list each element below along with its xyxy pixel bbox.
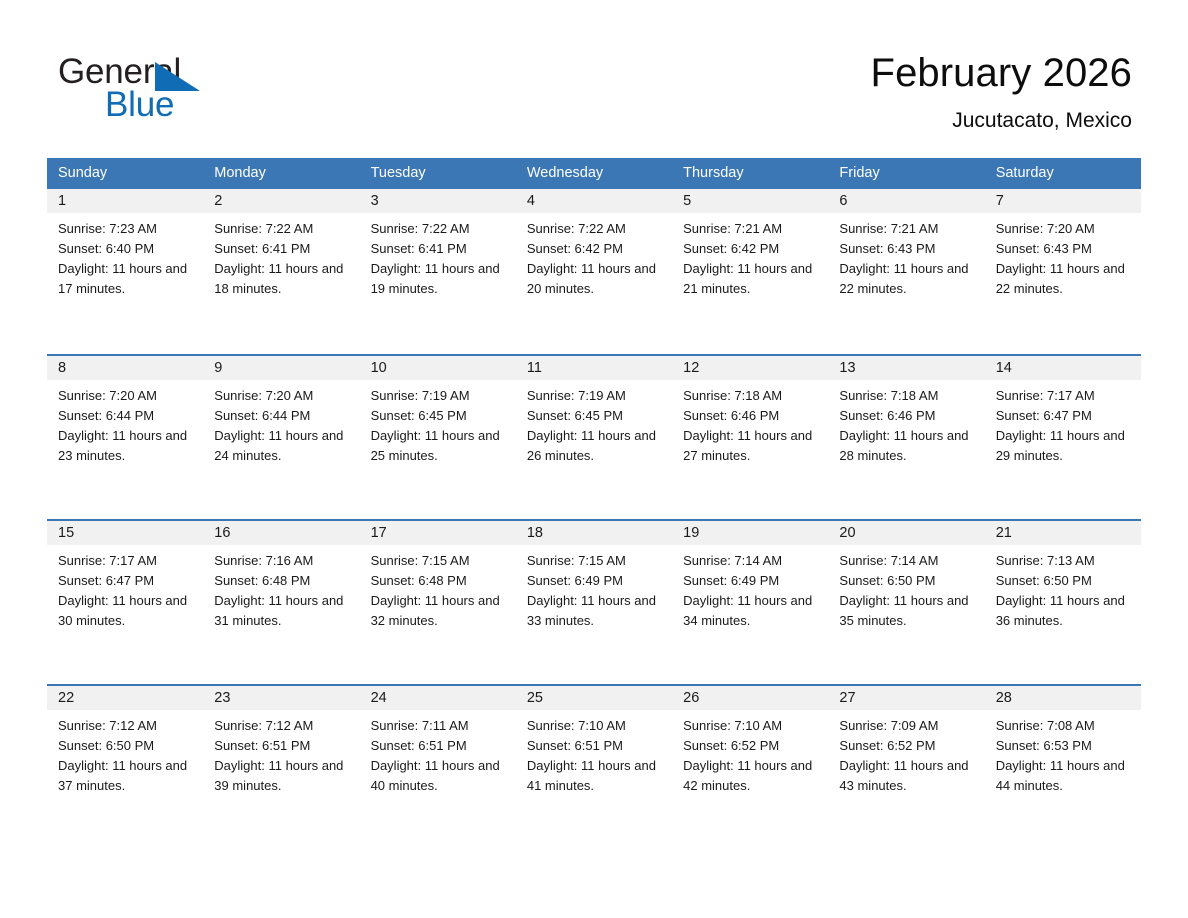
sunrise-text: Sunrise: 7:16 AM (214, 551, 351, 571)
day-cell[interactable]: 12 Sunrise: 7:18 AM Sunset: 6:46 PM Dayl… (672, 356, 828, 519)
sunrise-text: Sunrise: 7:21 AM (683, 219, 820, 239)
sunset-text: Sunset: 6:42 PM (527, 239, 664, 259)
daylight-text: Daylight: 11 hours and 34 minutes. (683, 591, 820, 631)
weekday-header-row: Sunday Monday Tuesday Wednesday Thursday… (47, 158, 1141, 189)
day-cell[interactable]: 6 Sunrise: 7:21 AM Sunset: 6:43 PM Dayli… (828, 189, 984, 354)
day-number: 2 (203, 189, 359, 213)
sunrise-text: Sunrise: 7:10 AM (683, 716, 820, 736)
day-cell[interactable]: 4 Sunrise: 7:22 AM Sunset: 6:42 PM Dayli… (516, 189, 672, 354)
day-details: Sunrise: 7:23 AM Sunset: 6:40 PM Dayligh… (47, 213, 203, 299)
sunrise-text: Sunrise: 7:22 AM (527, 219, 664, 239)
day-number: 17 (360, 521, 516, 545)
sunset-text: Sunset: 6:51 PM (214, 736, 351, 756)
sunset-text: Sunset: 6:51 PM (371, 736, 508, 756)
daylight-text: Daylight: 11 hours and 35 minutes. (839, 591, 976, 631)
day-details: Sunrise: 7:22 AM Sunset: 6:42 PM Dayligh… (516, 213, 672, 299)
sunrise-text: Sunrise: 7:14 AM (839, 551, 976, 571)
location-subtitle: Jucutacato, Mexico (871, 106, 1132, 136)
daylight-text: Daylight: 11 hours and 25 minutes. (371, 426, 508, 466)
sunset-text: Sunset: 6:50 PM (996, 571, 1133, 591)
day-number: 16 (203, 521, 359, 545)
sunset-text: Sunset: 6:52 PM (683, 736, 820, 756)
daylight-text: Daylight: 11 hours and 29 minutes. (996, 426, 1133, 466)
sunset-text: Sunset: 6:45 PM (527, 406, 664, 426)
weekday-header-sunday: Sunday (47, 158, 203, 189)
day-cell[interactable]: 27 Sunrise: 7:09 AM Sunset: 6:52 PM Dayl… (828, 686, 984, 849)
sunrise-text: Sunrise: 7:22 AM (214, 219, 351, 239)
day-number: 10 (360, 356, 516, 380)
day-number: 9 (203, 356, 359, 380)
day-details: Sunrise: 7:10 AM Sunset: 6:51 PM Dayligh… (516, 710, 672, 796)
sunrise-text: Sunrise: 7:19 AM (371, 386, 508, 406)
day-number: 19 (672, 521, 828, 545)
daylight-text: Daylight: 11 hours and 39 minutes. (214, 756, 351, 796)
sunrise-text: Sunrise: 7:13 AM (996, 551, 1133, 571)
day-number: 28 (985, 686, 1141, 710)
day-number: 5 (672, 189, 828, 213)
day-number: 1 (47, 189, 203, 213)
weekday-header-thursday: Thursday (672, 158, 828, 189)
day-details: Sunrise: 7:22 AM Sunset: 6:41 PM Dayligh… (360, 213, 516, 299)
sunset-text: Sunset: 6:46 PM (683, 406, 820, 426)
title-block: February 2026 Jucutacato, Mexico (871, 48, 1132, 136)
day-number: 4 (516, 189, 672, 213)
day-cell[interactable]: 24 Sunrise: 7:11 AM Sunset: 6:51 PM Dayl… (360, 686, 516, 849)
day-details: Sunrise: 7:17 AM Sunset: 6:47 PM Dayligh… (985, 380, 1141, 466)
sunrise-text: Sunrise: 7:10 AM (527, 716, 664, 736)
daylight-text: Daylight: 11 hours and 23 minutes. (58, 426, 195, 466)
day-cell[interactable]: 28 Sunrise: 7:08 AM Sunset: 6:53 PM Dayl… (985, 686, 1141, 849)
week-row: 1 Sunrise: 7:23 AM Sunset: 6:40 PM Dayli… (47, 189, 1141, 354)
sunrise-text: Sunrise: 7:18 AM (839, 386, 976, 406)
sunrise-text: Sunrise: 7:23 AM (58, 219, 195, 239)
daylight-text: Daylight: 11 hours and 30 minutes. (58, 591, 195, 631)
day-cell[interactable]: 25 Sunrise: 7:10 AM Sunset: 6:51 PM Dayl… (516, 686, 672, 849)
day-details: Sunrise: 7:20 AM Sunset: 6:43 PM Dayligh… (985, 213, 1141, 299)
sunset-text: Sunset: 6:49 PM (683, 571, 820, 591)
day-number: 14 (985, 356, 1141, 380)
day-details: Sunrise: 7:21 AM Sunset: 6:43 PM Dayligh… (828, 213, 984, 299)
sunrise-text: Sunrise: 7:15 AM (527, 551, 664, 571)
daylight-text: Daylight: 11 hours and 24 minutes. (214, 426, 351, 466)
daylight-text: Daylight: 11 hours and 33 minutes. (527, 591, 664, 631)
day-cell[interactable]: 16 Sunrise: 7:16 AM Sunset: 6:48 PM Dayl… (203, 521, 359, 684)
sunset-text: Sunset: 6:43 PM (996, 239, 1133, 259)
day-cell[interactable]: 26 Sunrise: 7:10 AM Sunset: 6:52 PM Dayl… (672, 686, 828, 849)
sunrise-text: Sunrise: 7:20 AM (996, 219, 1133, 239)
day-details: Sunrise: 7:22 AM Sunset: 6:41 PM Dayligh… (203, 213, 359, 299)
weekday-header-saturday: Saturday (985, 158, 1141, 189)
calendar-page: General Blue February 2026 Jucutacato, M… (0, 0, 1188, 918)
day-cell[interactable]: 5 Sunrise: 7:21 AM Sunset: 6:42 PM Dayli… (672, 189, 828, 354)
sunrise-text: Sunrise: 7:17 AM (58, 551, 195, 571)
day-details: Sunrise: 7:20 AM Sunset: 6:44 PM Dayligh… (203, 380, 359, 466)
day-cell[interactable]: 20 Sunrise: 7:14 AM Sunset: 6:50 PM Dayl… (828, 521, 984, 684)
daylight-text: Daylight: 11 hours and 42 minutes. (683, 756, 820, 796)
sunrise-text: Sunrise: 7:22 AM (371, 219, 508, 239)
day-number: 27 (828, 686, 984, 710)
sunset-text: Sunset: 6:48 PM (371, 571, 508, 591)
day-cell[interactable]: 22 Sunrise: 7:12 AM Sunset: 6:50 PM Dayl… (47, 686, 203, 849)
weekday-header-friday: Friday (828, 158, 984, 189)
day-cell[interactable]: 21 Sunrise: 7:13 AM Sunset: 6:50 PM Dayl… (985, 521, 1141, 684)
sunrise-text: Sunrise: 7:20 AM (214, 386, 351, 406)
daylight-text: Daylight: 11 hours and 27 minutes. (683, 426, 820, 466)
day-number: 20 (828, 521, 984, 545)
weekday-header-tuesday: Tuesday (360, 158, 516, 189)
logo-word-blue: Blue (105, 85, 174, 125)
sunset-text: Sunset: 6:42 PM (683, 239, 820, 259)
day-details: Sunrise: 7:20 AM Sunset: 6:44 PM Dayligh… (47, 380, 203, 466)
sunset-text: Sunset: 6:48 PM (214, 571, 351, 591)
daylight-text: Daylight: 11 hours and 22 minutes. (996, 259, 1133, 299)
day-details: Sunrise: 7:11 AM Sunset: 6:51 PM Dayligh… (360, 710, 516, 796)
sunrise-text: Sunrise: 7:20 AM (58, 386, 195, 406)
day-number: 15 (47, 521, 203, 545)
sunset-text: Sunset: 6:40 PM (58, 239, 195, 259)
day-details: Sunrise: 7:19 AM Sunset: 6:45 PM Dayligh… (360, 380, 516, 466)
day-cell[interactable]: 3 Sunrise: 7:22 AM Sunset: 6:41 PM Dayli… (360, 189, 516, 354)
sunrise-text: Sunrise: 7:19 AM (527, 386, 664, 406)
sunrise-text: Sunrise: 7:21 AM (839, 219, 976, 239)
day-cell[interactable]: 17 Sunrise: 7:15 AM Sunset: 6:48 PM Dayl… (360, 521, 516, 684)
day-cell[interactable]: 9 Sunrise: 7:20 AM Sunset: 6:44 PM Dayli… (203, 356, 359, 519)
day-cell[interactable]: 14 Sunrise: 7:17 AM Sunset: 6:47 PM Dayl… (985, 356, 1141, 519)
sunset-text: Sunset: 6:47 PM (996, 406, 1133, 426)
sunrise-text: Sunrise: 7:11 AM (371, 716, 508, 736)
sunset-text: Sunset: 6:46 PM (839, 406, 976, 426)
day-details: Sunrise: 7:18 AM Sunset: 6:46 PM Dayligh… (828, 380, 984, 466)
daylight-text: Daylight: 11 hours and 41 minutes. (527, 756, 664, 796)
daylight-text: Daylight: 11 hours and 21 minutes. (683, 259, 820, 299)
sunset-text: Sunset: 6:44 PM (58, 406, 195, 426)
masthead: General Blue February 2026 Jucutacato, M… (0, 0, 1188, 148)
sunset-text: Sunset: 6:43 PM (839, 239, 976, 259)
day-cell[interactable]: 13 Sunrise: 7:18 AM Sunset: 6:46 PM Dayl… (828, 356, 984, 519)
day-number: 23 (203, 686, 359, 710)
daylight-text: Daylight: 11 hours and 19 minutes. (371, 259, 508, 299)
sunrise-text: Sunrise: 7:18 AM (683, 386, 820, 406)
day-details: Sunrise: 7:10 AM Sunset: 6:52 PM Dayligh… (672, 710, 828, 796)
daylight-text: Daylight: 11 hours and 20 minutes. (527, 259, 664, 299)
sunrise-text: Sunrise: 7:12 AM (58, 716, 195, 736)
daylight-text: Daylight: 11 hours and 17 minutes. (58, 259, 195, 299)
day-cell[interactable]: 8 Sunrise: 7:20 AM Sunset: 6:44 PM Dayli… (47, 356, 203, 519)
weekday-header-monday: Monday (203, 158, 359, 189)
day-number: 22 (47, 686, 203, 710)
day-details: Sunrise: 7:09 AM Sunset: 6:52 PM Dayligh… (828, 710, 984, 796)
day-details: Sunrise: 7:13 AM Sunset: 6:50 PM Dayligh… (985, 545, 1141, 631)
day-number: 12 (672, 356, 828, 380)
day-details: Sunrise: 7:19 AM Sunset: 6:45 PM Dayligh… (516, 380, 672, 466)
day-cell[interactable]: 2 Sunrise: 7:22 AM Sunset: 6:41 PM Dayli… (203, 189, 359, 354)
sunset-text: Sunset: 6:51 PM (527, 736, 664, 756)
page-title: February 2026 (871, 48, 1132, 98)
day-cell[interactable]: 18 Sunrise: 7:15 AM Sunset: 6:49 PM Dayl… (516, 521, 672, 684)
day-details: Sunrise: 7:21 AM Sunset: 6:42 PM Dayligh… (672, 213, 828, 299)
sunset-text: Sunset: 6:44 PM (214, 406, 351, 426)
sunrise-text: Sunrise: 7:08 AM (996, 716, 1133, 736)
day-cell[interactable]: 10 Sunrise: 7:19 AM Sunset: 6:45 PM Dayl… (360, 356, 516, 519)
day-number: 26 (672, 686, 828, 710)
sunrise-text: Sunrise: 7:09 AM (839, 716, 976, 736)
daylight-text: Daylight: 11 hours and 37 minutes. (58, 756, 195, 796)
day-number: 24 (360, 686, 516, 710)
day-details: Sunrise: 7:12 AM Sunset: 6:50 PM Dayligh… (47, 710, 203, 796)
day-number: 11 (516, 356, 672, 380)
day-cell[interactable]: 19 Sunrise: 7:14 AM Sunset: 6:49 PM Dayl… (672, 521, 828, 684)
daylight-text: Daylight: 11 hours and 40 minutes. (371, 756, 508, 796)
sunset-text: Sunset: 6:45 PM (371, 406, 508, 426)
day-details: Sunrise: 7:14 AM Sunset: 6:49 PM Dayligh… (672, 545, 828, 631)
sunrise-text: Sunrise: 7:12 AM (214, 716, 351, 736)
sunset-text: Sunset: 6:50 PM (839, 571, 976, 591)
week-row: 8 Sunrise: 7:20 AM Sunset: 6:44 PM Dayli… (47, 354, 1141, 519)
week-row: 22 Sunrise: 7:12 AM Sunset: 6:50 PM Dayl… (47, 684, 1141, 849)
daylight-text: Daylight: 11 hours and 31 minutes. (214, 591, 351, 631)
sunset-text: Sunset: 6:41 PM (371, 239, 508, 259)
daylight-text: Daylight: 11 hours and 28 minutes. (839, 426, 976, 466)
daylight-text: Daylight: 11 hours and 18 minutes. (214, 259, 351, 299)
day-number: 18 (516, 521, 672, 545)
day-cell[interactable]: 11 Sunrise: 7:19 AM Sunset: 6:45 PM Dayl… (516, 356, 672, 519)
weekday-header-wednesday: Wednesday (516, 158, 672, 189)
day-details: Sunrise: 7:15 AM Sunset: 6:49 PM Dayligh… (516, 545, 672, 631)
day-number: 3 (360, 189, 516, 213)
sunset-text: Sunset: 6:41 PM (214, 239, 351, 259)
sunrise-text: Sunrise: 7:14 AM (683, 551, 820, 571)
general-blue-logo: General Blue (58, 52, 298, 128)
day-cell[interactable]: 23 Sunrise: 7:12 AM Sunset: 6:51 PM Dayl… (203, 686, 359, 849)
sunset-text: Sunset: 6:53 PM (996, 736, 1133, 756)
sunrise-text: Sunrise: 7:17 AM (996, 386, 1133, 406)
day-details: Sunrise: 7:16 AM Sunset: 6:48 PM Dayligh… (203, 545, 359, 631)
daylight-text: Daylight: 11 hours and 26 minutes. (527, 426, 664, 466)
daylight-text: Daylight: 11 hours and 22 minutes. (839, 259, 976, 299)
day-number: 6 (828, 189, 984, 213)
daylight-text: Daylight: 11 hours and 32 minutes. (371, 591, 508, 631)
day-number: 25 (516, 686, 672, 710)
day-details: Sunrise: 7:18 AM Sunset: 6:46 PM Dayligh… (672, 380, 828, 466)
day-number: 7 (985, 189, 1141, 213)
day-details: Sunrise: 7:12 AM Sunset: 6:51 PM Dayligh… (203, 710, 359, 796)
day-number: 21 (985, 521, 1141, 545)
sunset-text: Sunset: 6:50 PM (58, 736, 195, 756)
daylight-text: Daylight: 11 hours and 36 minutes. (996, 591, 1133, 631)
day-details: Sunrise: 7:08 AM Sunset: 6:53 PM Dayligh… (985, 710, 1141, 796)
daylight-text: Daylight: 11 hours and 44 minutes. (996, 756, 1133, 796)
sunrise-text: Sunrise: 7:15 AM (371, 551, 508, 571)
day-details: Sunrise: 7:15 AM Sunset: 6:48 PM Dayligh… (360, 545, 516, 631)
day-number: 8 (47, 356, 203, 380)
day-cell[interactable]: 7 Sunrise: 7:20 AM Sunset: 6:43 PM Dayli… (985, 189, 1141, 354)
sunset-text: Sunset: 6:47 PM (58, 571, 195, 591)
week-row: 15 Sunrise: 7:17 AM Sunset: 6:47 PM Dayl… (47, 519, 1141, 684)
day-number: 13 (828, 356, 984, 380)
daylight-text: Daylight: 11 hours and 43 minutes. (839, 756, 976, 796)
calendar-table: Sunday Monday Tuesday Wednesday Thursday… (47, 158, 1141, 849)
day-details: Sunrise: 7:14 AM Sunset: 6:50 PM Dayligh… (828, 545, 984, 631)
sunset-text: Sunset: 6:49 PM (527, 571, 664, 591)
day-cell[interactable]: 1 Sunrise: 7:23 AM Sunset: 6:40 PM Dayli… (47, 189, 203, 354)
day-details: Sunrise: 7:17 AM Sunset: 6:47 PM Dayligh… (47, 545, 203, 631)
day-cell[interactable]: 15 Sunrise: 7:17 AM Sunset: 6:47 PM Dayl… (47, 521, 203, 684)
sunset-text: Sunset: 6:52 PM (839, 736, 976, 756)
